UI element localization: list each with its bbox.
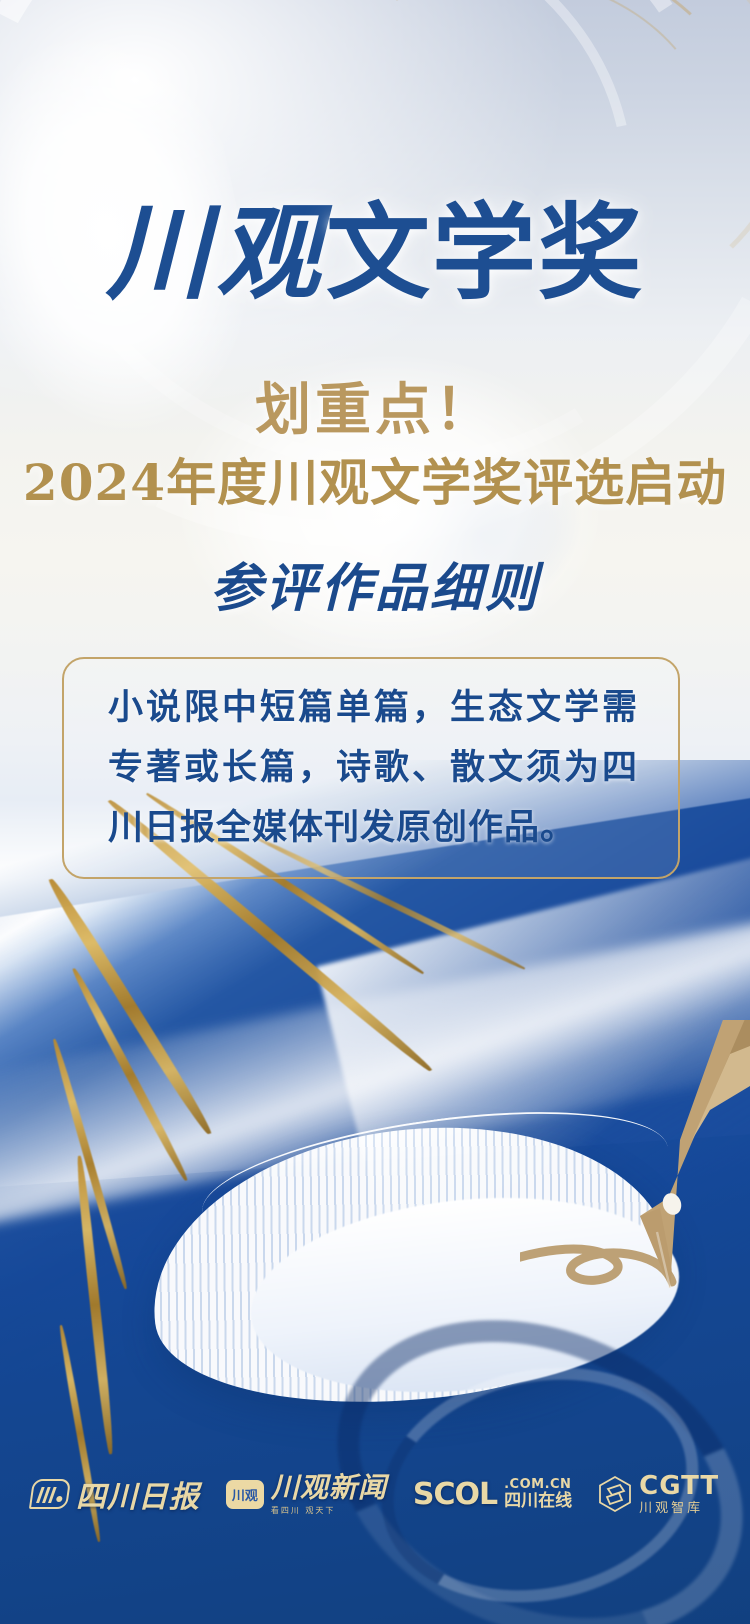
main-title-part2: 文学奖	[326, 191, 644, 314]
rules-text: 小说限中短篇单篇，生态文学需专著或长篇，诗歌、散文须为四川日报全媒体刊发原创作品…	[108, 678, 638, 858]
subtitle-text: 2024年度川观文学奖评选启动	[0, 455, 750, 510]
chuanguan-badge-icon: 川观	[226, 1480, 264, 1509]
main-title-part1: 川观	[106, 191, 326, 314]
poster-root: 川观文学奖 划重点！ 2024年度川观文学奖评选启动 参评作品细则 小说限中短篇…	[0, 0, 750, 1624]
logo-scol-label: SCOL	[413, 1477, 497, 1512]
section-heading: 参评作品细则	[0, 560, 750, 617]
kicker-text: 划重点！	[0, 382, 750, 438]
footer-logo-bar: 四川日报 川观 川观新闻 看四川 观天下 SCOL .COM.CN 四川在线	[0, 1458, 750, 1530]
logo-chuanguan-news[interactable]: 川观 川观新闻 看四川 观天下	[226, 1474, 387, 1515]
logo-sichuan-daily[interactable]: 四川日报	[31, 1472, 200, 1516]
logo-cgtt-label: CGTT	[639, 1473, 719, 1499]
logo-scol-chinese: 四川在线	[504, 1493, 572, 1510]
logo-scol-domain: .COM.CN	[504, 1478, 572, 1491]
logo-chuanguan-news-tagline: 看四川 观天下	[271, 1507, 336, 1515]
sichuan-daily-mark-icon	[29, 1479, 71, 1509]
fountain-pen-icon	[520, 1020, 750, 1300]
cgtt-cube-icon	[598, 1475, 632, 1513]
page-title: 川观文学奖	[0, 196, 750, 310]
logo-scol[interactable]: SCOL .COM.CN 四川在线	[413, 1477, 572, 1512]
logo-cgtt-chinese: 川观智库	[639, 1502, 703, 1515]
fountain-pen-illustration	[520, 1020, 750, 1300]
logo-chuanguan-news-label: 川观新闻	[271, 1474, 387, 1502]
logo-sichuan-daily-label: 四川日报	[76, 1472, 200, 1516]
logo-cgtt[interactable]: CGTT 川观智库	[598, 1473, 719, 1515]
